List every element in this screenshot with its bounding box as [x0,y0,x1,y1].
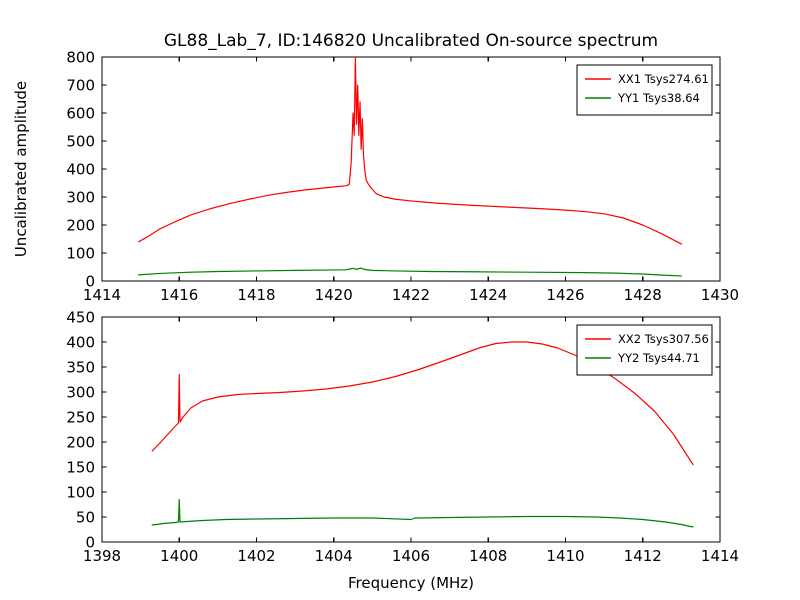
x-tick-label: 1426 [546,286,584,304]
y-tick-label: 800 [66,48,95,66]
y-tick-label: 150 [66,458,95,476]
y-tick-label: 400 [66,160,95,178]
spectrum-figure: 0100200300400500600700800141414161418142… [0,0,800,600]
y-tick-label: 200 [66,433,95,451]
x-tick-label: 1408 [469,547,507,565]
x-tick-label: 1402 [237,547,275,565]
legend-label-yy1: YY1 Tsys38.64 [617,91,700,105]
x-tick-label: 1404 [315,547,353,565]
y-tick-label: 450 [66,308,95,326]
y-tick-label: 200 [66,216,95,234]
x-tick-label: 1424 [469,286,507,304]
series-line-yy1 [139,268,682,276]
y-tick-label: 300 [66,383,95,401]
legend-top: XX1 Tsys274.61YY1 Tsys38.64 [577,65,712,115]
x-tick-label: 1430 [701,286,739,304]
y-tick-label: 350 [66,358,95,376]
legend-label-xx2: XX2 Tsys307.56 [618,332,709,346]
y-tick-label: 250 [66,408,95,426]
plot-panel-bottom: 0501001502002503003504004501398140014021… [66,308,739,592]
x-tick-label: 1418 [237,286,275,304]
y-tick-label: 600 [66,104,95,122]
x-tick-label: 1422 [392,286,430,304]
y-tick-label: 100 [66,483,95,501]
x-tick-label: 1420 [315,286,353,304]
x-tick-label: 1400 [160,547,198,565]
legend-label-xx1: XX1 Tsys274.61 [618,72,709,86]
x-tick-label: 1410 [546,547,584,565]
figure-title: GL88_Lab_7, ID:146820 Uncalibrated On-so… [164,31,658,51]
x-tick-label: 1428 [624,286,662,304]
x-tick-label: 1406 [392,547,430,565]
y-tick-label: 400 [66,333,95,351]
y-tick-label: 500 [66,132,95,150]
x-tick-label: 1414 [701,547,739,565]
plot-panel-top: 0100200300400500600700800141414161418142… [66,31,739,304]
y-axis-title: Uncalibrated amplitude [12,81,30,257]
x-axis-title: Frequency (MHz) [348,574,474,592]
y-tick-label: 300 [66,188,95,206]
legend-label-yy2: YY2 Tsys44.71 [617,351,700,365]
plot-canvas: 0100200300400500600700800141414161418142… [0,0,800,600]
y-tick-label: 700 [66,76,95,94]
y-tick-label: 100 [66,244,95,262]
x-tick-label: 1412 [624,547,662,565]
x-tick-label: 1398 [83,547,121,565]
legend-bottom: XX2 Tsys307.56YY2 Tsys44.71 [577,325,712,375]
y-tick-label: 50 [76,508,95,526]
series-line-yy2 [152,500,693,528]
x-tick-label: 1416 [160,286,198,304]
x-tick-label: 1414 [83,286,121,304]
